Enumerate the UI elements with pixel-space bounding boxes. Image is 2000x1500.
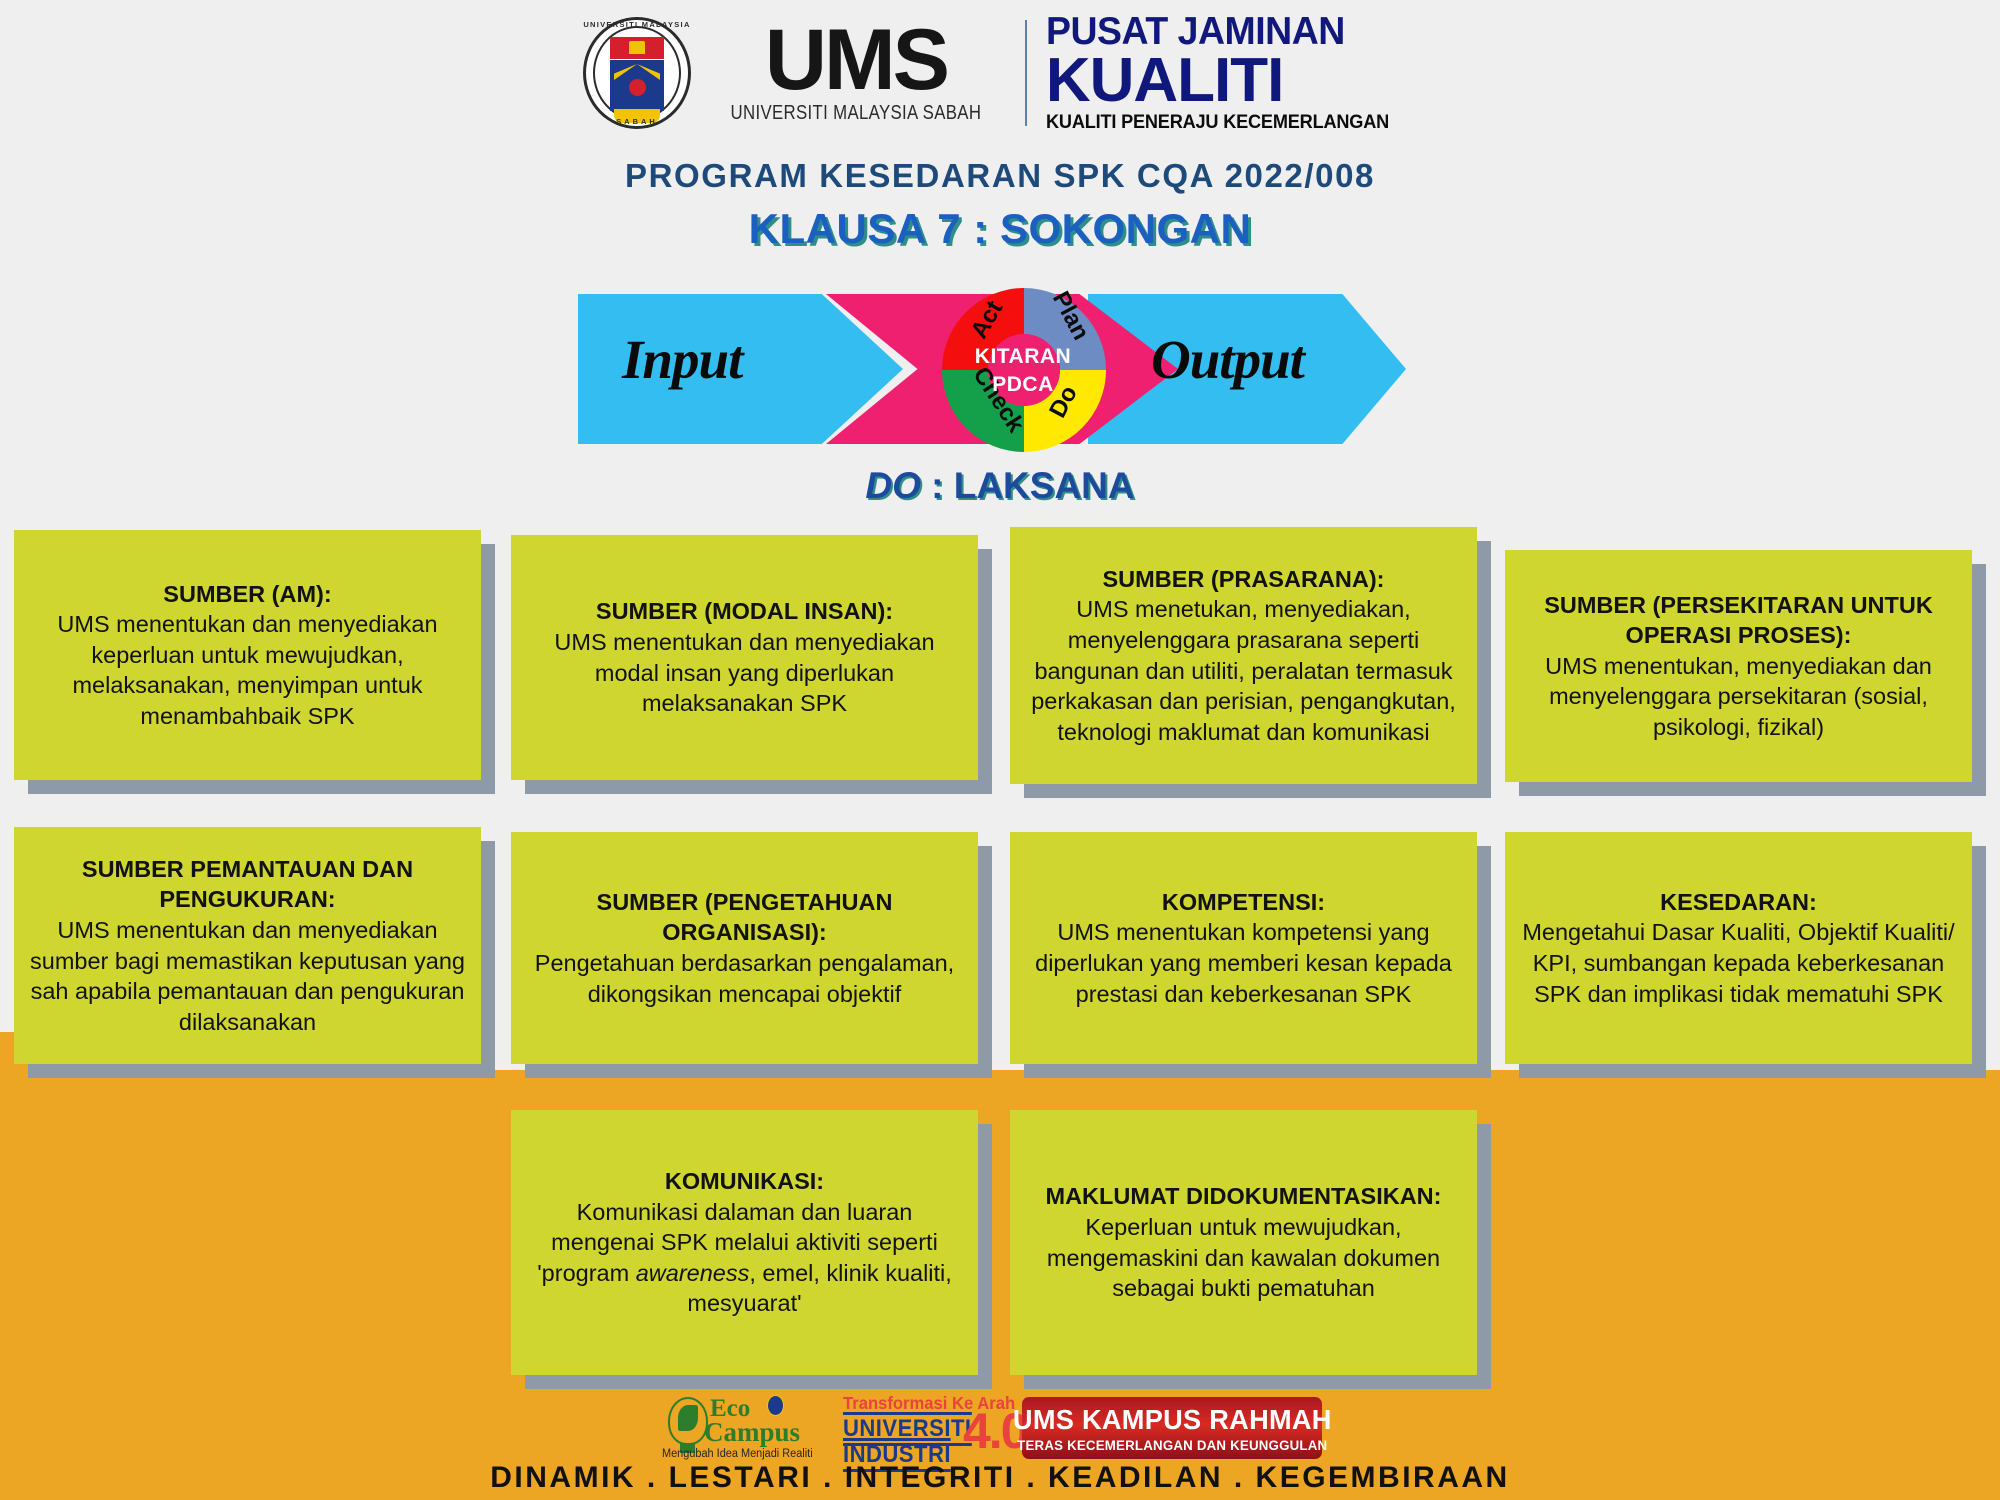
card-body: UMS menetukan, menyediakan, menyelenggar… — [1024, 594, 1463, 747]
card-body: Keperluan untuk mewujudkan, mengemaskini… — [1024, 1212, 1463, 1304]
pdca-center-line1: KITARAN — [975, 343, 1071, 371]
ums-kampus-rahmah-badge: UMS KAMPUS RAHMAH TERAS KECEMERLANGAN DA… — [1022, 1397, 1322, 1459]
card-sumber-persekitaran: SUMBER (PERSEKITARAN UNTUK OPERASI PROSE… — [1505, 550, 1972, 782]
card-sumber-modal-insan: SUMBER (MODAL INSAN): UMS menentukan dan… — [511, 535, 978, 780]
card-body-italic: awareness — [636, 1260, 750, 1286]
card-maklumat-didokumentasikan: MAKLUMAT DIDOKUMENTASIKAN: Keperluan unt… — [1010, 1110, 1477, 1375]
pdca-center-label: KITARAN PDCA — [974, 334, 1072, 408]
ums-wordmark: UMS UNIVERSITI MALAYSIA SABAH — [703, 21, 1009, 125]
universiti-industri-40-logo: Transformasi Ke Arah UNIVERSITI INDUSTRI… — [841, 1393, 1016, 1463]
card-body: UMS menentukan dan menyediakan modal ins… — [525, 627, 964, 719]
card-heading: SUMBER (PENGETAHUAN ORGANISASI): — [525, 887, 964, 948]
footer-motto: DINAMIK . LESTARI . INTEGRITI . KEADILAN… — [0, 1461, 2000, 1495]
card-body: Pengetahuan berdasarkan pengalaman, diko… — [525, 948, 964, 1009]
card-heading: KOMUNIKASI: — [665, 1166, 824, 1197]
card-body: Komunikasi dalaman dan luaran mengenai S… — [525, 1197, 964, 1319]
footer-logo-row: Eco Campus Mengubah Idea Menjadi Realiti… — [660, 1392, 1360, 1464]
card-sumber-prasarana: SUMBER (PRASARANA): UMS menetukan, menye… — [1010, 527, 1477, 784]
card-heading: KESEDARAN: — [1660, 887, 1817, 918]
clause-title: KLAUSA 7 : SOKONGAN — [0, 205, 2000, 253]
eco-campus-logo: Eco Campus Mengubah Idea Menjadi Realiti — [660, 1393, 835, 1463]
ums-crest-icon: UNIVERSITI MALAYSIA SABAH — [583, 17, 691, 129]
card-kesedaran: KESEDARAN: Mengetahui Dasar Kualiti, Obj… — [1505, 832, 1972, 1064]
card-body: Mengetahui Dasar Kualiti, Objektif Kuali… — [1519, 917, 1958, 1009]
footer: Eco Campus Mengubah Idea Menjadi Realiti… — [0, 1388, 2000, 1500]
crest-top-text: UNIVERSITI MALAYSIA — [583, 20, 691, 29]
logo-row: UNIVERSITI MALAYSIA SABAH UMS UNIVERSITI… — [583, 14, 1423, 132]
input-label: Input — [622, 328, 742, 391]
eco-seal-icon — [767, 1395, 784, 1416]
leaf-icon — [678, 1405, 698, 1431]
card-heading: SUMBER (PRASARANA): — [1103, 564, 1385, 595]
logo-divider — [1025, 20, 1027, 126]
card-heading: SUMBER (PERSEKITARAN UNTUK OPERASI PROSE… — [1519, 590, 1958, 651]
pdca-wheel-icon: Plan Do Check Act KITARAN PDCA — [928, 276, 1120, 464]
rahmah-line1: UMS KAMPUS RAHMAH — [1013, 1404, 1332, 1436]
phase-label: DO : LAKSANA — [0, 465, 2000, 507]
phase-label-do: DO — [865, 465, 921, 506]
card-heading: SUMBER PEMANTAUAN DAN PENGUKURAN: — [28, 854, 467, 915]
card-heading: SUMBER (AM): — [163, 579, 331, 610]
card-sumber-pengetahuan: SUMBER (PENGETAHUAN ORGANISASI): Pengeta… — [511, 832, 978, 1064]
eco-campus-tagline: Mengubah Idea Menjadi Realiti — [662, 1448, 813, 1460]
pjk-line2: KUALITI — [1046, 52, 1415, 109]
pdca-center-line2: PDCA — [992, 371, 1054, 399]
output-label: Output — [1151, 328, 1304, 391]
card-body: UMS menentukan dan menyediakan sumber ba… — [28, 915, 467, 1037]
card-heading: MAKLUMAT DIDOKUMENTASIKAN: — [1046, 1181, 1442, 1212]
card-sumber-am: SUMBER (AM): UMS menentukan dan menyedia… — [14, 530, 481, 780]
pjk-line1: PUSAT JAMINAN — [1046, 12, 1400, 52]
card-sumber-pemantauan: SUMBER PEMANTAUAN DAN PENGUKURAN: UMS me… — [14, 827, 481, 1064]
program-title: PROGRAM KESEDARAN SPK CQA 2022/008 — [0, 157, 2000, 195]
card-heading: KOMPETENSI: — [1162, 887, 1325, 918]
crest-bottom-text: SABAH — [583, 117, 691, 126]
pdca-process-diagram: Input Output Plan Do Check Act KITARAN P… — [578, 282, 1406, 455]
ums-fullname: UNIVERSITI MALAYSIA SABAH — [731, 101, 982, 125]
phase-label-rest: : LAKSANA — [921, 465, 1135, 506]
card-body: UMS menentukan, menyediakan dan menyelen… — [1519, 651, 1958, 743]
header: UNIVERSITI MALAYSIA SABAH UMS UNIVERSITI… — [0, 0, 2000, 200]
card-heading: SUMBER (MODAL INSAN): — [596, 596, 893, 627]
ums-acronym: UMS — [703, 21, 1009, 100]
rahmah-line2: TERAS KECEMERLANGAN DAN KEUNGGULAN — [1017, 1437, 1327, 1453]
card-komunikasi: KOMUNIKASI: Komunikasi dalaman dan luara… — [511, 1110, 978, 1375]
eco-campus-line2: Campus — [704, 1417, 800, 1448]
pjk-tagline: KUALITI PENERAJU KECEMERLANGAN — [1046, 111, 1389, 134]
card-body: UMS menentukan dan menyediakan keperluan… — [28, 609, 467, 731]
card-kompetensi: KOMPETENSI: UMS menentukan kompetensi ya… — [1010, 832, 1477, 1064]
card-body: UMS menentukan kompetensi yang diperluka… — [1024, 917, 1463, 1009]
pjk-logo: PUSAT JAMINAN KUALITI KUALITI PENERAJU K… — [1046, 12, 1415, 134]
